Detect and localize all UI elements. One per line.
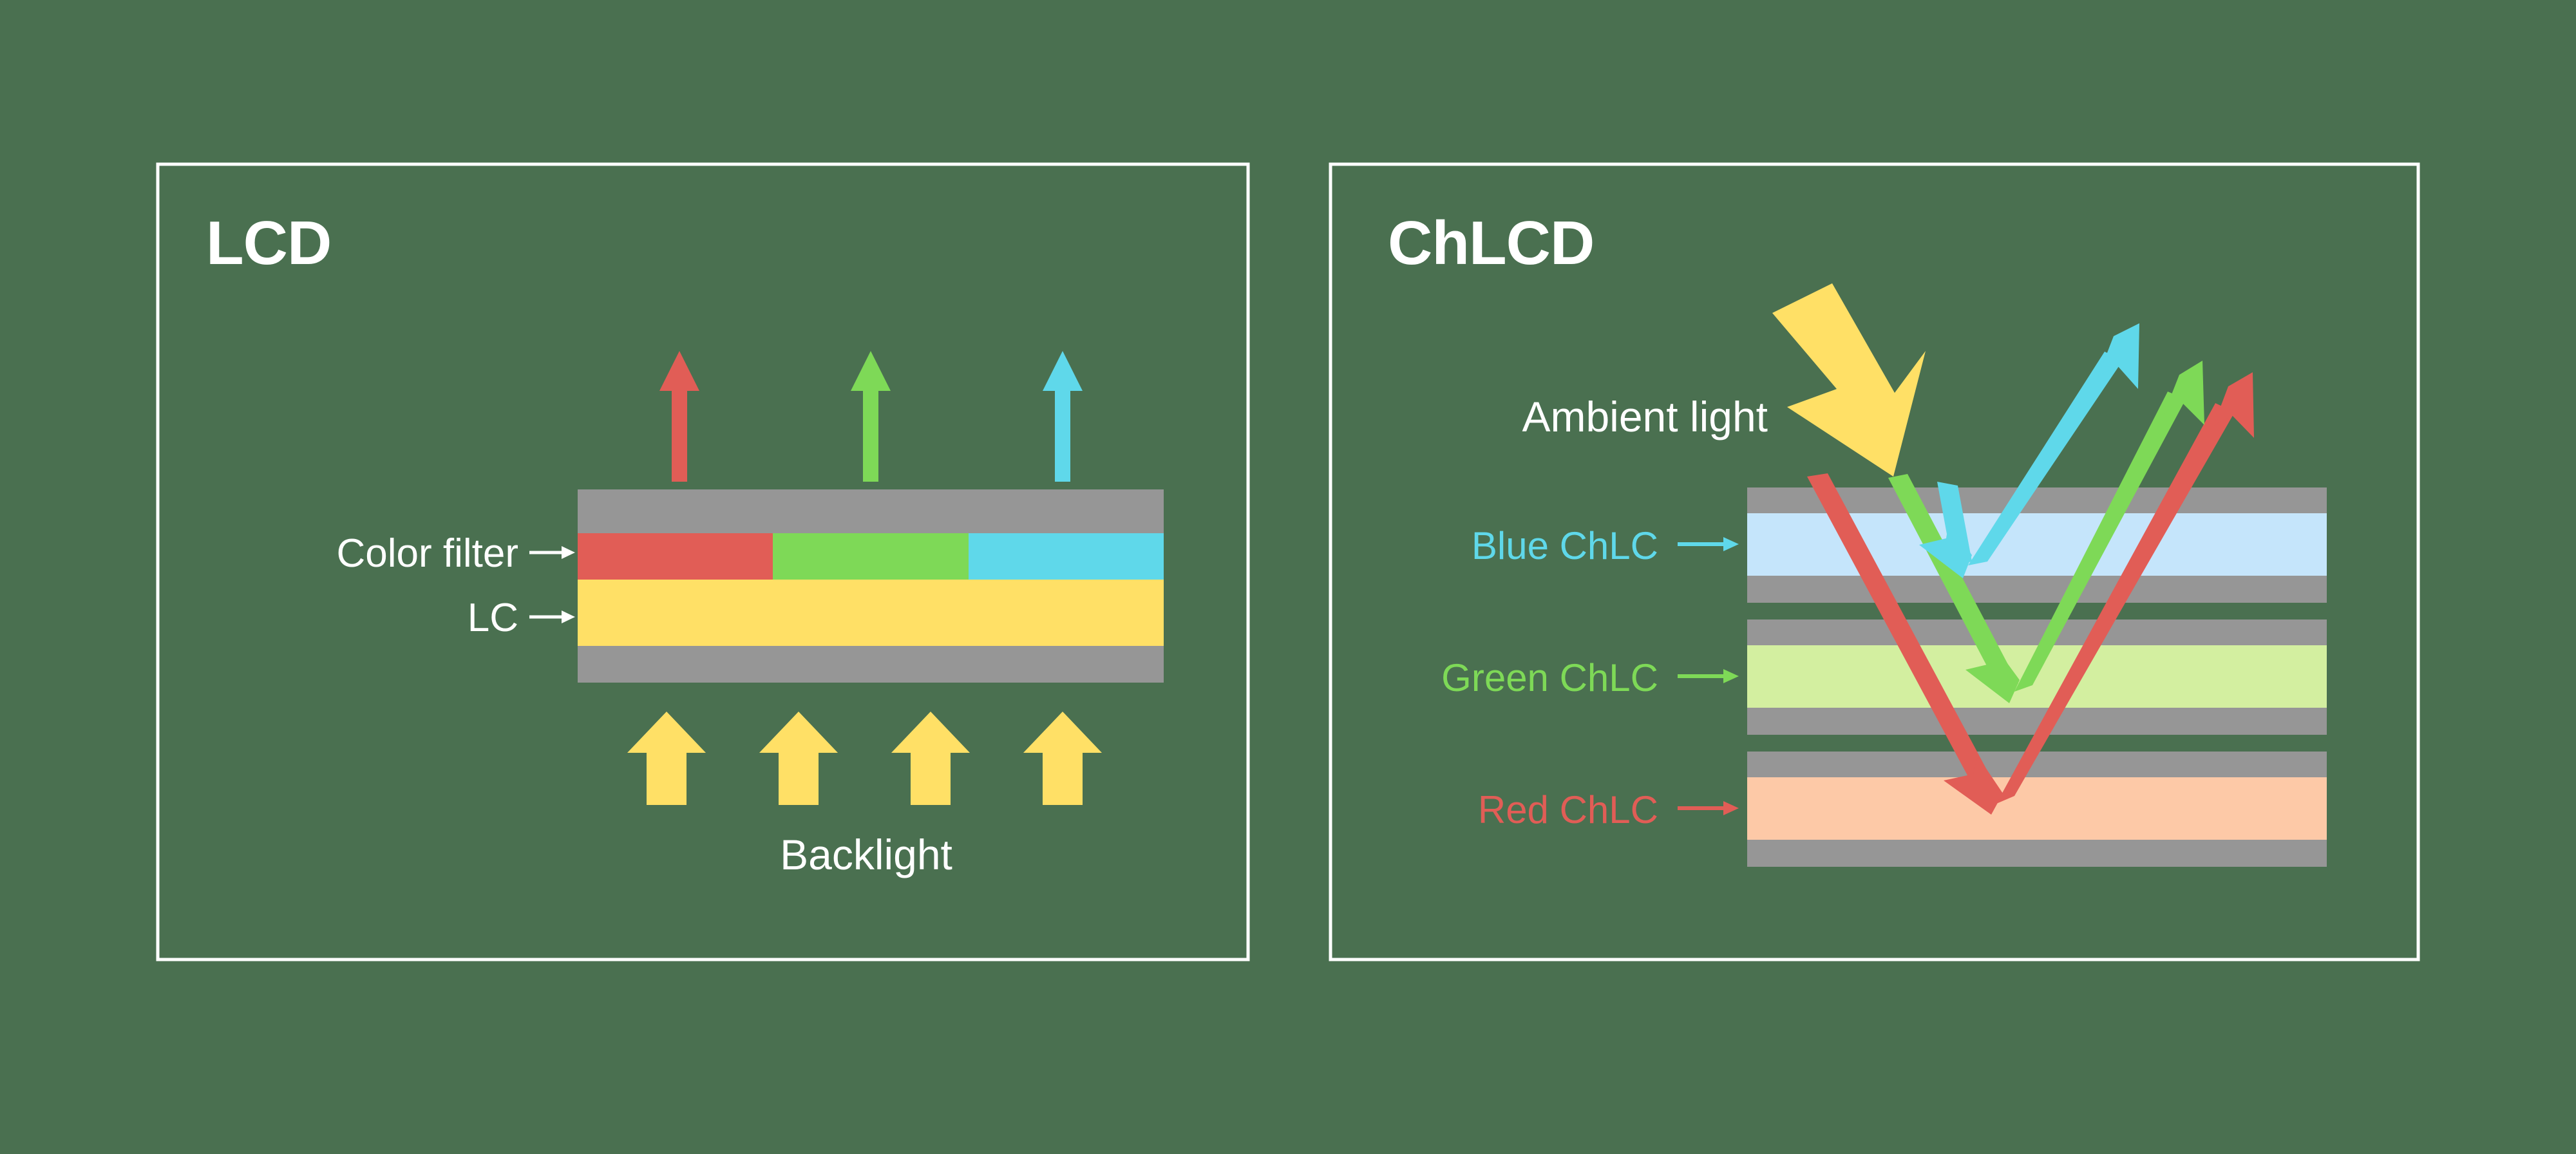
chlcd-panel-graphics: ChLCD Ambient light Blue ChLC Green ChLC… bbox=[0, 0, 2576, 1154]
green-chlc-cell bbox=[1747, 620, 2327, 735]
chlcd-label-arrows bbox=[1678, 537, 1739, 815]
blue-chlc-leader-arrow bbox=[1678, 537, 1739, 551]
red-chlc-cell bbox=[1747, 752, 2327, 867]
ambient-light-label: Ambient light bbox=[1522, 393, 1768, 440]
blue-chlc-label: Blue ChLC bbox=[1472, 524, 1658, 567]
green-chlc-leader-arrow bbox=[1678, 669, 1739, 683]
green-chlc-label: Green ChLC bbox=[1441, 656, 1658, 699]
chlcd-panel-title: ChLCD bbox=[1388, 209, 1594, 278]
chlcd-layer-stack bbox=[1747, 487, 2327, 867]
red-chlc-label: Red ChLC bbox=[1478, 788, 1658, 831]
red-chlc-leader-arrow bbox=[1678, 801, 1739, 815]
diagram-canvas: LCD Color filter LC Backlight bbox=[0, 0, 2576, 1154]
ambient-light-arrow bbox=[1772, 283, 1926, 477]
